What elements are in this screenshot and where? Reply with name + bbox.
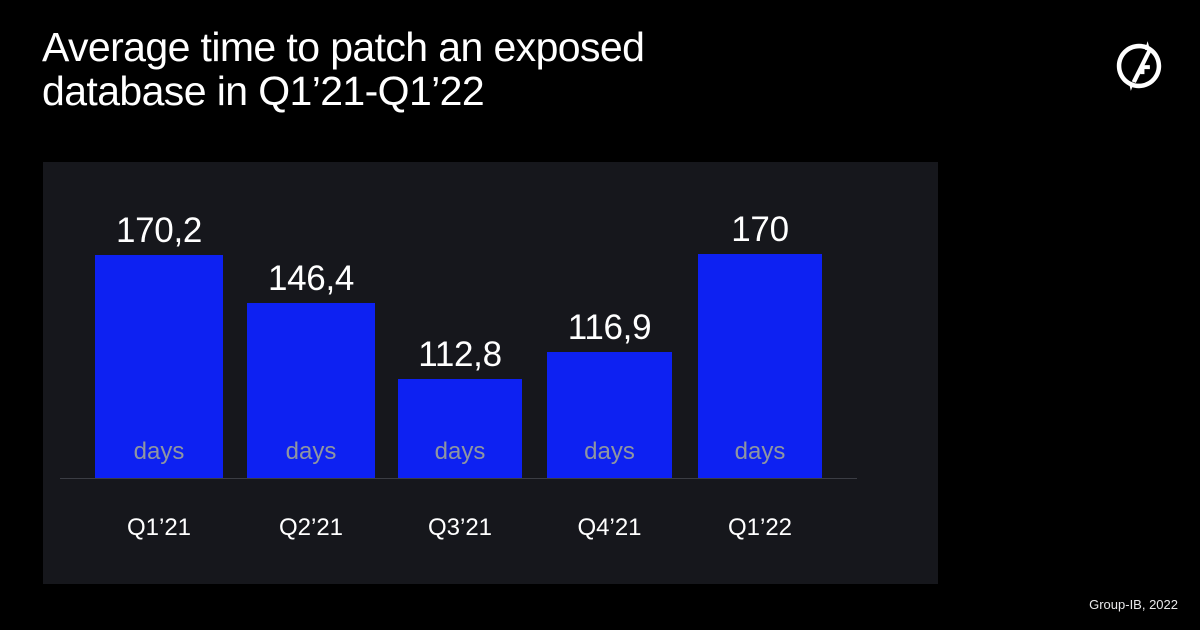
group-ib-logo-icon — [1110, 37, 1168, 95]
bar-value-label: 146,4 — [247, 259, 375, 299]
bar-category-label: Q4’21 — [527, 514, 692, 542]
bar-value-label: 112,8 — [398, 335, 522, 375]
bar-category-label: Q1’22 — [678, 514, 842, 542]
bar-category-label: Q3’21 — [378, 514, 542, 542]
bar-unit-label: days — [698, 438, 822, 466]
bar-group[interactable]: 146,4 days Q2’21 — [247, 303, 375, 478]
bar-group[interactable]: 112,8 days Q3’21 — [398, 379, 522, 478]
bar-category-label: Q1’21 — [75, 514, 243, 542]
axis-baseline — [60, 478, 857, 479]
bar-unit-label: days — [547, 438, 672, 466]
bar-unit-label: days — [398, 438, 522, 466]
source-credit: Group-IB, 2022 — [0, 597, 1178, 612]
bar-value-label: 170,2 — [95, 211, 223, 251]
chart-panel: 170,2 days Q1’21 146,4 days Q2’21 112,8 … — [43, 162, 938, 584]
chart-page: Average time to patch an exposed databas… — [0, 0, 1200, 630]
bar-value-label: 170 — [698, 210, 822, 250]
bar-group[interactable]: 170 days Q1’22 — [698, 254, 822, 478]
bar-category-label: Q2’21 — [227, 514, 395, 542]
bar-unit-label: days — [95, 438, 223, 466]
bar-group[interactable]: 170,2 days Q1’21 — [95, 255, 223, 478]
bar-group[interactable]: 116,9 days Q4’21 — [547, 352, 672, 478]
page-title: Average time to patch an exposed databas… — [42, 26, 802, 114]
bar-value-label: 116,9 — [547, 308, 672, 348]
bar-unit-label: days — [247, 438, 375, 466]
